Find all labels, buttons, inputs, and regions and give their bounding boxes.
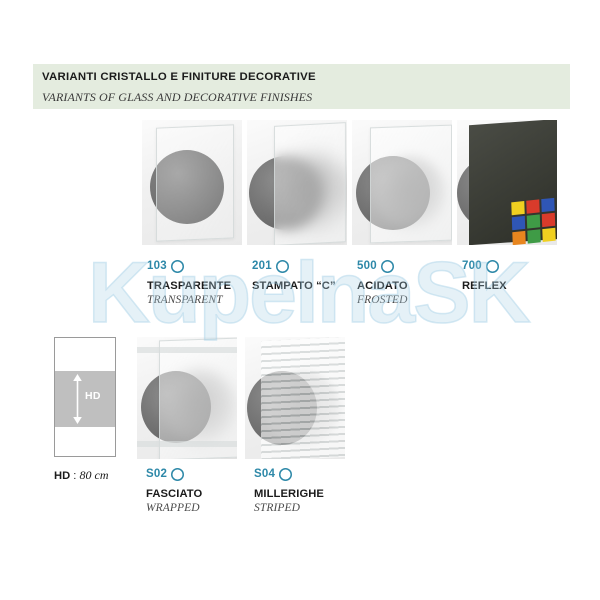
sample-name: MILLERIGHE	[254, 488, 324, 500]
color-swatch	[511, 201, 524, 215]
hd-double-arrow-icon	[72, 374, 83, 424]
color-swatch	[512, 231, 525, 245]
water-drop-icon	[486, 260, 499, 273]
hd-caption: HD : 80 cm	[54, 468, 109, 483]
sample-tile-transparente[interactable]	[142, 120, 242, 245]
sample-name-translation: WRAPPED	[146, 502, 202, 514]
glass-pane	[274, 122, 346, 245]
sample-name: TRASPARENTE	[147, 280, 231, 292]
color-swatch	[542, 228, 555, 242]
sample-code: 500	[357, 260, 377, 272]
code-row: 700	[462, 258, 507, 274]
caption-transparente: 103 TRASPARENTE TRANSPARENT	[147, 258, 231, 306]
code-row: S02	[146, 466, 202, 482]
code-row: 103	[147, 258, 231, 274]
sample-name-translation: FROSTED	[357, 294, 408, 306]
color-swatch-grid	[511, 198, 555, 245]
sample-tile-stampato-c[interactable]	[247, 120, 347, 245]
hd-measurement-diagram: HD	[54, 337, 116, 457]
sample-name: REFLEX	[462, 280, 507, 292]
color-swatch	[541, 198, 554, 212]
code-row: S04	[254, 466, 324, 482]
striped-glass-pane	[261, 337, 345, 459]
sample-name: ACIDATO	[357, 280, 408, 292]
water-drop-icon	[171, 260, 184, 273]
sample-tile-fasciato[interactable]	[137, 337, 237, 459]
water-drop-icon	[279, 468, 292, 481]
sample-tile-acidato[interactable]	[352, 120, 452, 245]
sample-tile-reflex[interactable]	[457, 120, 557, 245]
color-swatch	[542, 213, 555, 227]
wrap-band-top	[137, 347, 237, 353]
caption-fasciato: S02 FASCIATO WRAPPED	[146, 466, 202, 514]
page-subtitle: VARIANTS OF GLASS AND DECORATIVE FINISHE…	[42, 90, 312, 105]
page-title: VARIANTI CRISTALLO E FINITURE DECORATIVE	[42, 71, 316, 83]
sample-code: S02	[146, 468, 167, 480]
sample-code: S04	[254, 468, 275, 480]
sample-code: 201	[252, 260, 272, 272]
sample-code: 700	[462, 260, 482, 272]
color-swatch	[512, 216, 525, 230]
water-drop-icon	[171, 468, 184, 481]
caption-reflex: 700 REFLEX	[462, 258, 507, 294]
sample-tile-millerighe[interactable]	[245, 337, 345, 459]
glass-pane	[370, 125, 452, 244]
code-row: 201	[252, 258, 336, 274]
color-swatch	[527, 229, 540, 243]
hd-caption-label: HD	[54, 470, 70, 482]
sample-name-translation: STRIPED	[254, 502, 324, 514]
hd-caption-separator: :	[70, 470, 79, 482]
sample-code: 103	[147, 260, 167, 272]
wrap-band-bottom	[137, 441, 237, 447]
glass-pane	[156, 124, 234, 241]
hd-caption-value: 80 cm	[80, 468, 109, 482]
code-row: 500	[357, 258, 408, 274]
sample-name-translation: TRANSPARENT	[147, 294, 231, 306]
caption-stampato-c: 201 STAMPATO “C”	[252, 258, 336, 294]
water-drop-icon	[381, 260, 394, 273]
color-swatch	[527, 214, 540, 228]
caption-acidato: 500 ACIDATO FROSTED	[357, 258, 408, 306]
hd-inner-label: HD	[85, 390, 101, 402]
sample-name: FASCIATO	[146, 488, 202, 500]
caption-millerighe: S04 MILLERIGHE STRIPED	[254, 466, 324, 514]
sample-name: STAMPATO “C”	[252, 280, 336, 292]
color-swatch	[526, 199, 539, 213]
water-drop-icon	[276, 260, 289, 273]
